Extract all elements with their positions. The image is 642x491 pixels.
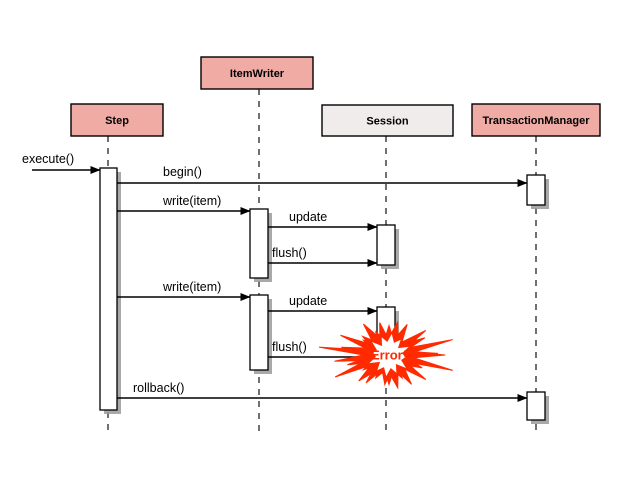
- message-label: rollback(): [133, 381, 184, 395]
- activation-bar-transaction-manager: [527, 175, 545, 205]
- activation-bar-item-writer: [250, 295, 268, 370]
- message-label: flush(): [272, 246, 307, 260]
- message-label: update: [289, 210, 327, 224]
- activation-bar-session: [377, 225, 395, 265]
- message-label: begin(): [163, 165, 202, 179]
- activation-bar-item-writer: [250, 209, 268, 278]
- sequence-diagram-svg: execute()begin()write(item)updateflush()…: [0, 0, 642, 491]
- participant-label-transaction-manager: TransactionManager: [483, 115, 591, 127]
- sequence-diagram-canvas: execute()begin()write(item)updateflush()…: [0, 0, 642, 491]
- message-label: update: [289, 294, 327, 308]
- participant-session[interactable]: Session: [322, 105, 453, 136]
- participant-transaction-manager[interactable]: TransactionManager: [472, 104, 600, 136]
- activation-bar-step: [100, 168, 117, 410]
- message-label: write(item): [162, 194, 221, 208]
- activation-bar-transaction-manager: [527, 392, 545, 420]
- participant-label-session: Session: [366, 115, 408, 127]
- participant-item-writer[interactable]: ItemWriter: [201, 57, 313, 89]
- participant-label-step: Step: [105, 115, 129, 127]
- participant-step[interactable]: Step: [71, 104, 163, 136]
- participant-label-item-writer: ItemWriter: [230, 68, 285, 80]
- error-label: Error!: [371, 347, 407, 362]
- message-label: execute(): [22, 152, 74, 166]
- message-label: write(item): [162, 280, 221, 294]
- message-label: flush(): [272, 340, 307, 354]
